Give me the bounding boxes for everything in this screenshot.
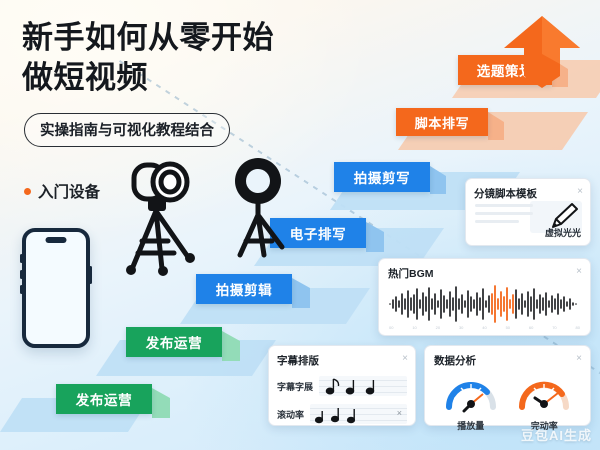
step-shoot-edit-2[interactable]: 拍摄剪写 bbox=[334, 162, 430, 192]
tick: 60 bbox=[529, 325, 533, 330]
tick: 20 bbox=[436, 325, 440, 330]
caption-row-label: 字幕字展 bbox=[277, 380, 313, 393]
tick: 70 bbox=[552, 325, 556, 330]
step-label-face: 脚本排写 bbox=[396, 108, 488, 136]
note-staff: × bbox=[310, 404, 407, 424]
step-label-face: 拍摄剪写 bbox=[334, 162, 430, 192]
subtitle-pill: 实操指南与可视化教程结合 bbox=[24, 113, 230, 147]
phone-side-button bbox=[20, 285, 23, 294]
step-label: 发布运营 bbox=[76, 389, 132, 409]
smartphone-illustration bbox=[22, 228, 90, 348]
ring-light-tripod-icon bbox=[218, 155, 298, 263]
step-label: 拍摄剪写 bbox=[354, 167, 410, 187]
studio-light-tripod-icon bbox=[112, 157, 208, 279]
step-label: 电子排写 bbox=[290, 223, 346, 243]
tick: 30 bbox=[459, 325, 463, 330]
gauge-playback: 播放量 bbox=[443, 371, 499, 432]
card-data-analytics[interactable]: 数据分析 × 播放量 bbox=[424, 345, 591, 426]
card-title: 数据分析 bbox=[434, 353, 581, 368]
step-script-writing[interactable]: 脚本排写 bbox=[396, 108, 488, 136]
card-title: 分镜脚本模板 bbox=[474, 186, 582, 201]
card-title: 热门BGM bbox=[388, 266, 581, 281]
card-title: 字幕排版 bbox=[277, 353, 407, 368]
step-publish-operate-2[interactable]: 发布运营 bbox=[126, 327, 222, 357]
storyboard-pencil-label: 虚拟光光 bbox=[545, 226, 581, 239]
step-label: 拍摄剪辑 bbox=[216, 279, 272, 299]
gauge-dial-blue bbox=[443, 371, 499, 413]
legend-label: 入门设备 bbox=[38, 180, 100, 202]
caption-row[interactable]: 滚动率 × bbox=[277, 404, 407, 424]
tick: 80 bbox=[576, 325, 580, 330]
waveform-tick-row: 00 10 20 30 40 50 60 70 80 bbox=[389, 325, 580, 330]
close-icon[interactable]: × bbox=[576, 354, 582, 364]
caption-row-label: 滚动率 bbox=[277, 408, 304, 421]
storyboard-text-lines bbox=[475, 204, 535, 228]
card-caption-layout[interactable]: 字幕排版 × 字幕字展 滚动率 bbox=[268, 345, 416, 426]
page-title: 新手如何从零开始 做短视频 bbox=[22, 18, 442, 97]
close-icon[interactable]: × bbox=[402, 354, 408, 364]
tick: 40 bbox=[482, 325, 486, 330]
close-icon[interactable]: × bbox=[577, 187, 583, 197]
phone-power-button bbox=[89, 266, 92, 284]
gauge-completion: 完动率 bbox=[516, 371, 572, 432]
step-shoot-edit-1[interactable]: 拍摄剪辑 bbox=[196, 274, 292, 304]
step-label-face: 发布运营 bbox=[56, 384, 152, 414]
note-staff bbox=[319, 376, 407, 396]
close-icon[interactable]: × bbox=[576, 267, 582, 277]
card-hot-bgm[interactable]: 热门BGM × bbox=[378, 258, 591, 336]
tick: 50 bbox=[506, 325, 510, 330]
step-label: 脚本排写 bbox=[415, 113, 469, 132]
legend-entry-devices: 入门设备 bbox=[24, 180, 100, 202]
step-label-face: 拍摄剪辑 bbox=[196, 274, 292, 304]
tick: 00 bbox=[389, 325, 393, 330]
legend-dot-icon bbox=[24, 188, 31, 195]
phone-side-button bbox=[20, 254, 23, 263]
watermark: 豆包AI生成 bbox=[521, 425, 592, 444]
infographic-canvas: 发布运营 发布运营 拍摄剪辑 电子排写 拍摄剪写 脚本排写 选题 bbox=[0, 0, 600, 450]
card-storyboard-template[interactable]: 分镜脚本模板 × 虚拟光光 bbox=[465, 178, 591, 246]
up-arrow-icon bbox=[494, 14, 590, 110]
phone-notch bbox=[46, 237, 67, 243]
title-line-1: 新手如何从零开始 bbox=[22, 20, 274, 55]
tick: 10 bbox=[412, 325, 416, 330]
gauge-group: 播放量 完动率 bbox=[434, 371, 581, 432]
step-label-face: 发布运营 bbox=[126, 327, 222, 357]
step-label: 发布运营 bbox=[146, 332, 202, 352]
phone-side-button bbox=[20, 270, 23, 279]
caption-row-x[interactable]: × bbox=[397, 408, 402, 418]
caption-row[interactable]: 字幕字展 bbox=[277, 376, 407, 396]
title-line-2: 做短视频 bbox=[22, 58, 442, 98]
audio-waveform bbox=[387, 284, 583, 324]
step-publish-operate-1[interactable]: 发布运营 bbox=[56, 384, 152, 414]
gauge-label: 播放量 bbox=[443, 419, 499, 432]
gauge-dial-orange bbox=[516, 371, 572, 413]
